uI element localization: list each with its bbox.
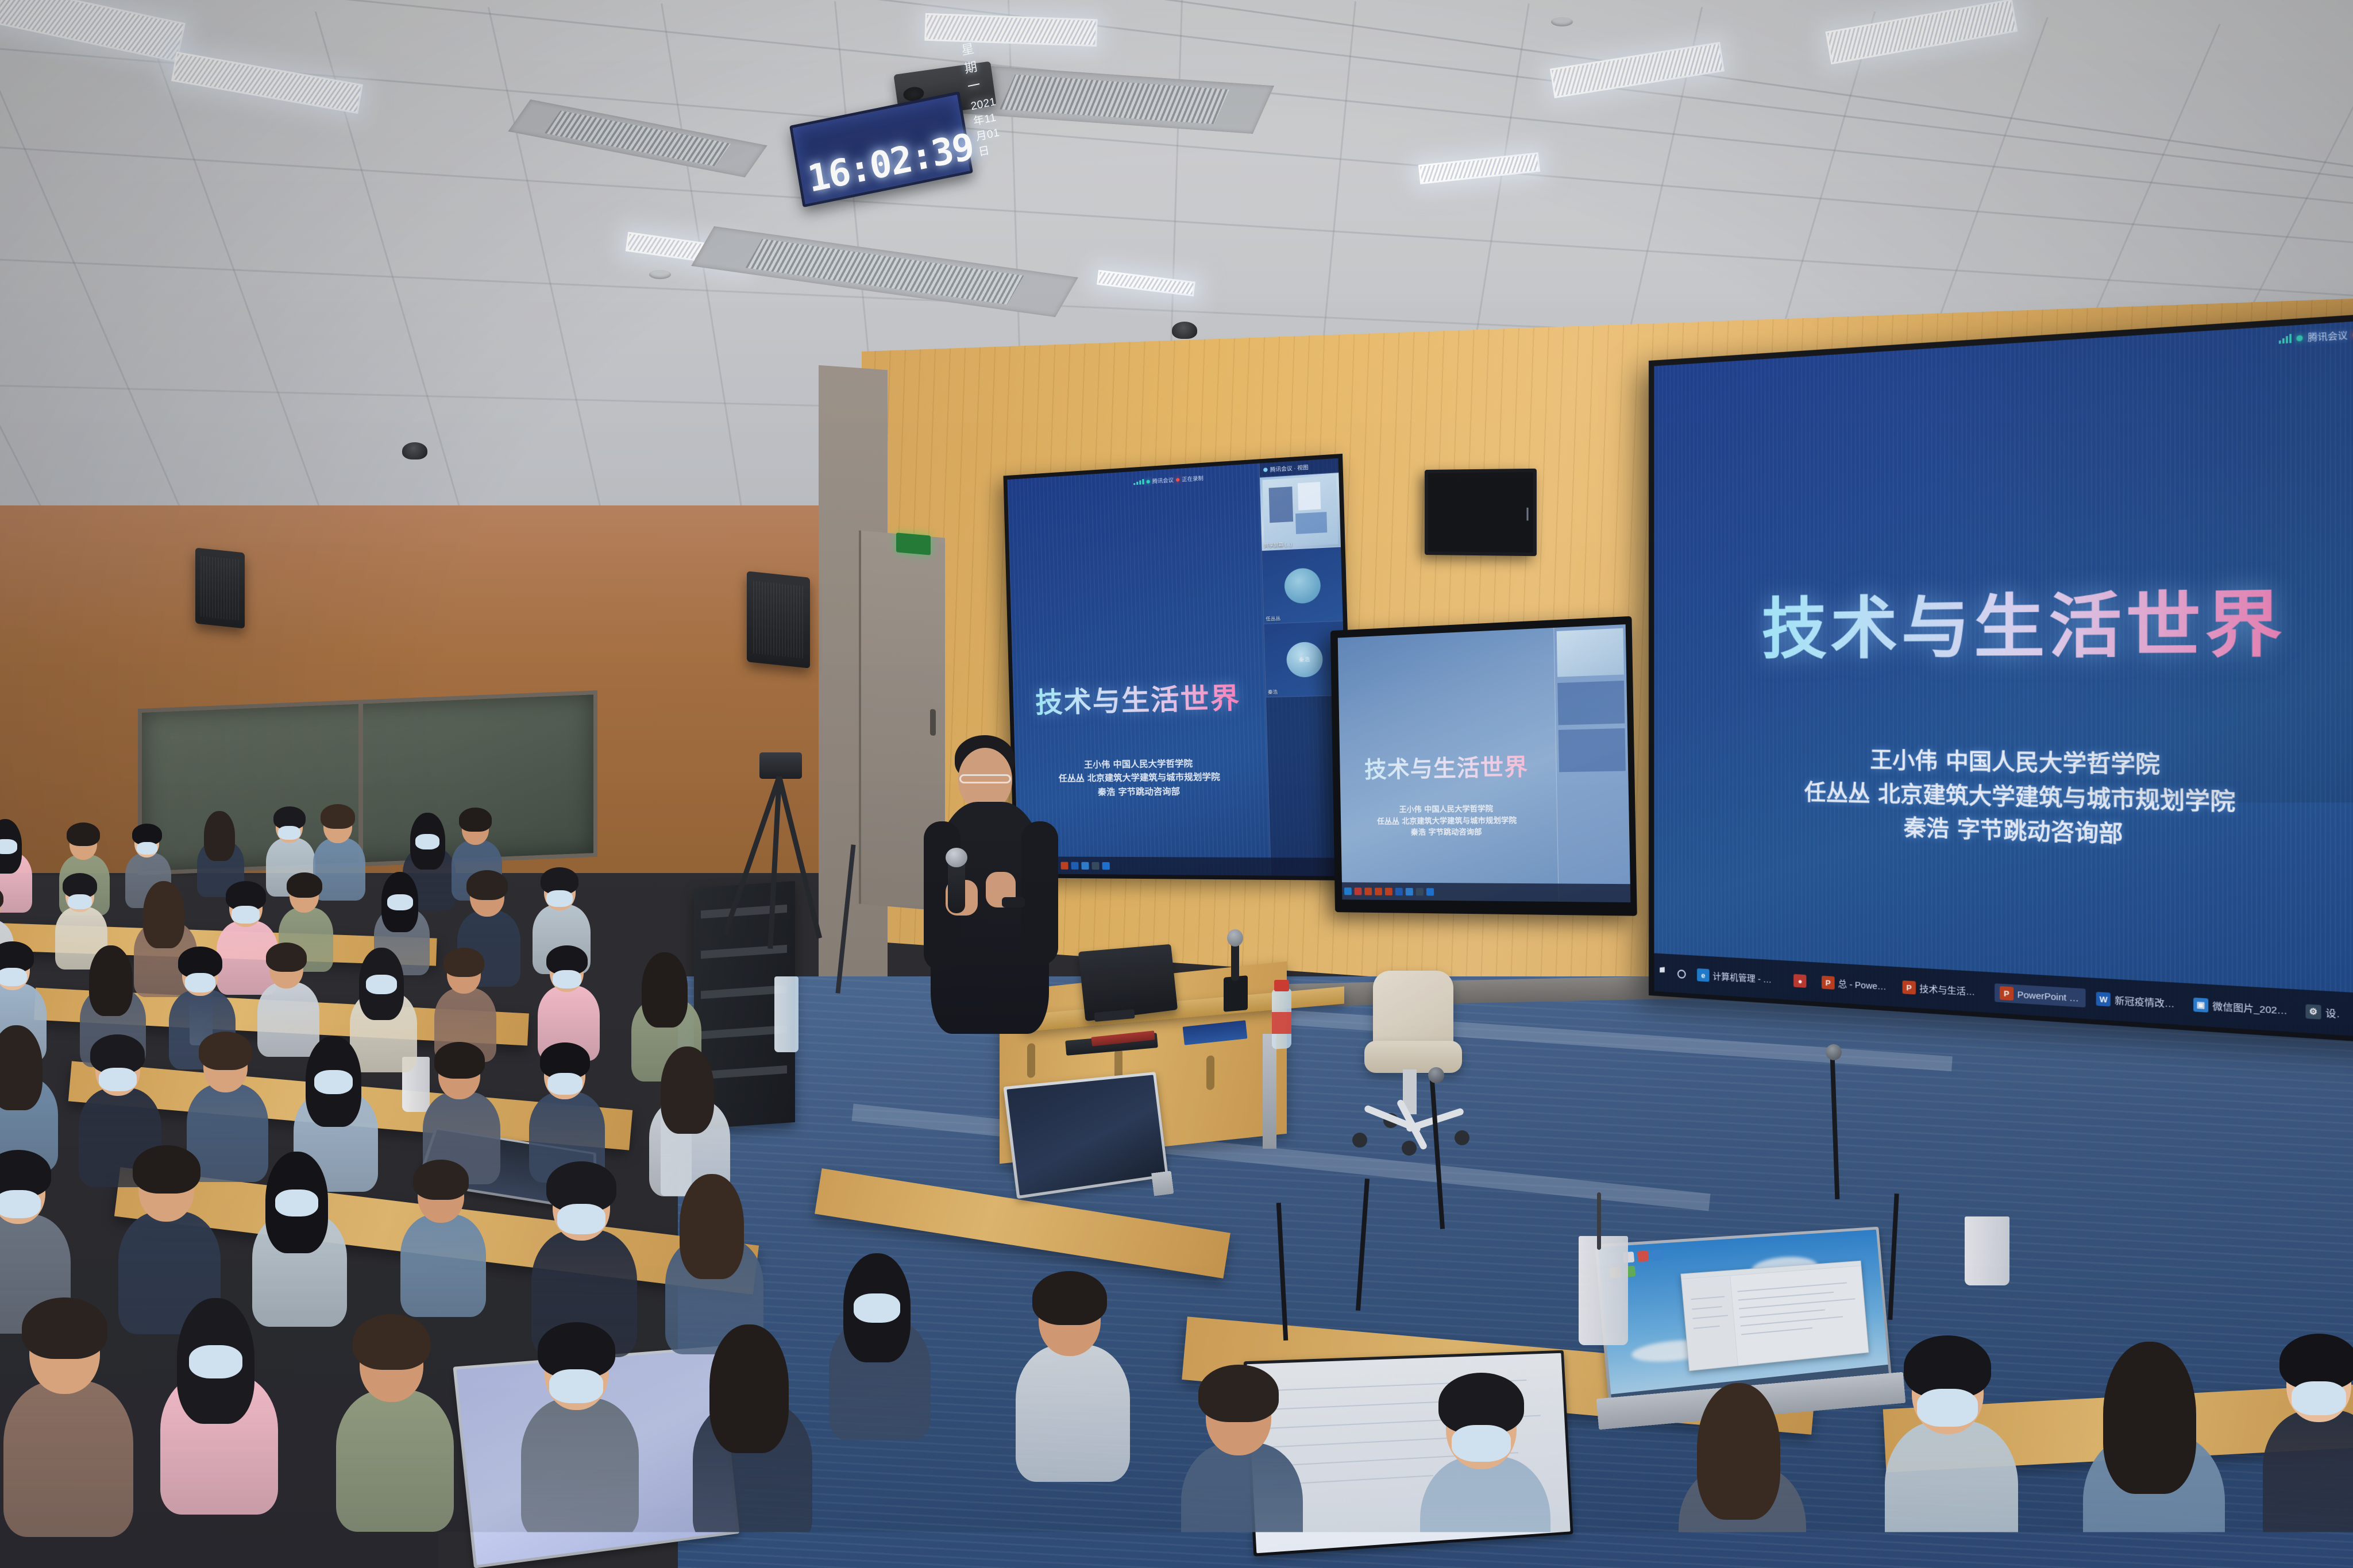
face-mask <box>549 1369 603 1403</box>
bottle-cap <box>1274 980 1289 991</box>
audience-tablet[interactable] <box>1011 1079 1195 1211</box>
word-icon[interactable] <box>1395 887 1403 895</box>
slide-author-line: 秦浩 字节跳动咨询部 <box>1341 827 1556 839</box>
face-mask <box>557 1204 605 1234</box>
microphone-body <box>1231 941 1239 981</box>
ceiling-tile-line <box>0 32 65 554</box>
taskbar-item-label: 计算机管理 - 用户配... <box>1712 970 1780 986</box>
paper-cup <box>1965 1216 2009 1285</box>
ceiling-tile-line <box>488 7 617 579</box>
face-mask <box>232 906 260 924</box>
search-icon[interactable] <box>1677 969 1686 978</box>
taskbar-item[interactable]: ● <box>1789 971 1812 990</box>
main-projection-screen: 腾讯会议 正在录制 技术与生活世界 王小伟 中国人民大学哲学院 任丛丛 北京建筑… <box>1649 310 2353 1046</box>
audience-member-hair <box>22 1297 107 1359</box>
audience-member <box>516 1320 642 1539</box>
participant-name: 共享屏幕 (...) <box>1264 541 1293 549</box>
face-mask <box>278 826 300 840</box>
audience-member-hair <box>266 943 307 972</box>
presenter-glasses-icon <box>959 774 1011 783</box>
signal-bars-icon <box>2279 334 2292 343</box>
recording-label: 正在录制 <box>1182 474 1203 483</box>
gear-icon[interactable] <box>1416 888 1424 895</box>
conference-participant-panel[interactable] <box>1553 624 1630 902</box>
audience-member-hair <box>133 1145 200 1194</box>
wall-speaker <box>747 571 810 669</box>
slide-authors: 王小伟 中国人民大学哲学院 任丛丛 北京建筑大学建筑与城市规划学院 秦浩 字节跳… <box>1654 741 2353 862</box>
taskbar-item-label: 设置 <box>2325 1006 2340 1020</box>
powerpoint-icon[interactable] <box>1364 887 1372 895</box>
meeting-status-bar: 腾讯会议 正在录制 <box>2279 325 2353 346</box>
lecture-hall-photo: 16:02:39 星期一 2021年11月01日 腾讯会议 <box>0 0 2353 1568</box>
audience-member-hair <box>204 811 235 862</box>
participant-avatar: 秦浩 <box>1286 641 1323 677</box>
audience-member <box>825 1252 934 1440</box>
audience-member <box>397 1158 488 1316</box>
face-mask <box>1917 1389 1978 1427</box>
participant-tile-screenshare[interactable]: 共享屏幕 (...) <box>1260 473 1341 551</box>
slide-title: 技术与生活世界 <box>1340 748 1555 785</box>
photos-icon[interactable] <box>1406 887 1413 895</box>
audience-member-hair <box>287 872 322 898</box>
audience-member-torso <box>400 1214 486 1316</box>
audience-member-hair <box>709 1324 788 1453</box>
office-chair-seat <box>1364 1041 1462 1073</box>
audience-member <box>0 1296 137 1537</box>
face-mask <box>546 890 573 907</box>
audience-member <box>1414 1371 1554 1568</box>
water-bottle <box>774 976 799 1052</box>
record-icon[interactable]: ● <box>1793 974 1806 988</box>
powerpoint-icon[interactable]: P <box>1822 976 1835 990</box>
face-mask <box>275 1189 319 1216</box>
bottle-label <box>1272 1012 1291 1034</box>
taskbar-item[interactable]: PPowerPoint 幻灯... <box>1995 983 2086 1007</box>
taskbar-item[interactable]: ⚙设置 <box>2300 1001 2346 1024</box>
powerpoint-icon[interactable]: P <box>1903 980 1916 995</box>
meeting-app-label: 腾讯会议 <box>2308 329 2347 344</box>
photos-icon[interactable] <box>1081 862 1089 869</box>
audience-member-hair <box>0 1025 43 1110</box>
audience-member-hair <box>321 804 355 829</box>
taskbar-item[interactable]: ▣微信图片_2021110... <box>2188 995 2294 1021</box>
face-mask <box>0 1190 41 1219</box>
desktop-icon[interactable] <box>1637 1250 1649 1262</box>
participant-tile-video[interactable] <box>1557 681 1625 725</box>
connected-dot-icon <box>1146 480 1150 484</box>
edge-icon[interactable]: e <box>1697 968 1710 982</box>
audience-member <box>1879 1334 2022 1568</box>
signal-bars-icon <box>1133 479 1144 485</box>
face-mask <box>0 839 17 853</box>
face-mask <box>189 1345 243 1379</box>
participant-tile-avatar[interactable] <box>1559 728 1626 772</box>
audience-member-hair <box>2103 1342 2196 1493</box>
recording-dot-icon <box>1176 478 1179 482</box>
ceiling-camera-icon <box>402 442 427 459</box>
audience-member-torso <box>1420 1457 1550 1568</box>
microphone-head-icon <box>946 848 967 867</box>
drink-cup <box>1579 1236 1628 1345</box>
audience-member-hair <box>143 881 184 949</box>
audience-member <box>1176 1363 1306 1568</box>
audience-member-hair <box>434 1042 485 1078</box>
record-icon[interactable] <box>1355 887 1362 895</box>
taskbar-item[interactable]: P总 - PowerPoint <box>1817 973 1893 995</box>
audience-member-torso <box>521 1398 639 1539</box>
face-mask <box>854 1293 900 1323</box>
taskbar-item[interactable]: e计算机管理 - 用户配... <box>1692 965 1784 988</box>
audience-member-hair <box>199 1032 252 1070</box>
participant-name: 任丛丛 <box>1266 615 1280 622</box>
left-meeting-status-bar: 腾讯会议 正在录制 <box>1133 474 1203 486</box>
ceiling-camera-icon <box>1172 322 1197 339</box>
face-mask <box>387 894 413 910</box>
edge-icon[interactable] <box>1344 887 1352 895</box>
wall-speaker <box>195 547 245 628</box>
panel-status-icon <box>1263 468 1268 472</box>
tencent-meeting-icon[interactable] <box>1102 862 1109 869</box>
audience-member-hair <box>0 886 3 910</box>
face-mask <box>0 968 27 986</box>
audience-member-hair <box>443 948 484 977</box>
face-mask <box>314 1070 353 1094</box>
audience-member-hair <box>661 1046 714 1134</box>
windows-start-icon[interactable] <box>1660 967 1671 979</box>
audience-member-hair <box>353 1314 430 1370</box>
audience-member <box>1673 1381 1810 1568</box>
audience-member <box>688 1323 816 1546</box>
slide-title: 技术与生活世界 <box>1013 673 1265 720</box>
video-camera <box>759 752 802 779</box>
face-mask <box>1452 1425 1511 1462</box>
windows-taskbar[interactable] <box>1342 882 1630 902</box>
audience-member-hair <box>680 1174 744 1279</box>
conference-panel-title: 腾讯会议 · 视图 <box>1270 463 1309 473</box>
audience-member-torso <box>3 1381 133 1536</box>
audience-member-hair <box>89 945 133 1016</box>
face-mask <box>99 1068 137 1091</box>
taskbar-item[interactable]: W新冠疫情改革后... <box>2091 989 2182 1014</box>
audience-member-hair <box>1032 1271 1108 1325</box>
presenter-arm-right <box>1021 821 1058 965</box>
taskbar-item[interactable]: P技术与生活世界 - ... <box>1897 978 1989 1001</box>
taskbar-item-label: 总 - PowerPoint <box>1838 977 1888 992</box>
audience-member-torso <box>1016 1345 1130 1482</box>
wall-mounted-monitor <box>1425 469 1537 556</box>
taskbar-item-label: 微信图片_2021110... <box>2212 999 2289 1017</box>
participant-tile-video[interactable]: 任丛丛 <box>1262 547 1343 624</box>
face-mask <box>366 975 397 994</box>
presenter <box>917 735 1066 1034</box>
gear-icon[interactable]: ⚙ <box>2305 1004 2321 1019</box>
audience-member-hair <box>67 822 100 847</box>
audience-member <box>1011 1269 1133 1481</box>
audience-member-hair <box>1697 1383 1781 1520</box>
word-icon[interactable]: W <box>2096 992 2111 1007</box>
taskbar-item-label: PowerPoint 幻灯... <box>2017 987 2080 1004</box>
audience-member-hair <box>413 1160 469 1200</box>
desktop-icon[interactable] <box>1652 1250 1663 1261</box>
microphone-head-icon <box>1227 929 1243 947</box>
powerpoint-icon[interactable] <box>1385 887 1392 895</box>
audience-member <box>331 1312 457 1531</box>
audience-member-hair <box>459 808 492 831</box>
face-mask <box>553 970 581 988</box>
drink-straw <box>1597 1192 1601 1250</box>
participant-name: 秦浩 <box>1268 689 1278 696</box>
audience-member <box>2077 1340 2229 1568</box>
powerpoint-icon[interactable]: P <box>2000 986 2013 1001</box>
audience-member-torso <box>1885 1421 2018 1568</box>
audience-member-hair <box>642 952 688 1028</box>
face-mask <box>68 894 92 909</box>
meeting-app-label: 腾讯会议 <box>1152 476 1174 485</box>
audience-member <box>2258 1332 2353 1553</box>
face-mask <box>415 834 439 849</box>
audience-member <box>155 1296 281 1515</box>
tencent-meeting-icon[interactable] <box>1426 888 1434 895</box>
smoke-detector-icon <box>1551 17 1573 26</box>
audience-member-torso <box>1181 1443 1303 1568</box>
slide-author-line: 任丛丛 北京建筑大学建筑与城市规划学院 <box>1341 815 1556 828</box>
file-explorer-window[interactable] <box>1681 1261 1869 1372</box>
desk-microphone-head-icon <box>1826 1044 1842 1060</box>
desk-microphone-head-icon <box>1428 1067 1444 1083</box>
center-confidence-monitor: 技术与生活世界 王小伟 中国人民大学哲学院 任丛丛 北京建筑大学建筑与城市规划学… <box>1330 616 1637 916</box>
connected-dot-icon <box>2296 335 2302 341</box>
photos-icon[interactable]: ▣ <box>2193 998 2208 1013</box>
presenter-wristwatch <box>1002 897 1025 907</box>
ceiling-tile-line <box>661 3 754 582</box>
powerpoint-icon[interactable] <box>1375 887 1382 895</box>
face-mask <box>547 1073 582 1095</box>
exit-sign <box>896 532 931 555</box>
audience-member-torso <box>2263 1410 2353 1553</box>
face-mask <box>185 973 215 992</box>
slide-title: 技术与生活世界 <box>1654 563 2353 671</box>
slide-authors: 王小伟 中国人民大学哲学院 任丛丛 北京建筑大学建筑与城市规划学院 秦浩 字节跳… <box>1341 803 1556 839</box>
audience-member-torso <box>336 1390 454 1531</box>
windows-taskbar[interactable] <box>1017 856 1350 876</box>
face-mask <box>137 842 157 855</box>
word-icon[interactable] <box>1071 862 1078 869</box>
desk-leg <box>1263 1034 1276 1149</box>
taskbar-item-label: 技术与生活世界 - ... <box>1919 982 1984 998</box>
taskbar-item-label: 新冠疫情改革后... <box>2115 993 2177 1010</box>
audience-member-hair <box>1198 1365 1278 1422</box>
gear-icon[interactable] <box>1091 862 1099 869</box>
audience-member-hair <box>466 870 508 900</box>
smoke-detector-icon <box>649 270 671 279</box>
participant-tile-screenshare[interactable] <box>1557 628 1624 677</box>
face-mask <box>2292 1381 2346 1415</box>
